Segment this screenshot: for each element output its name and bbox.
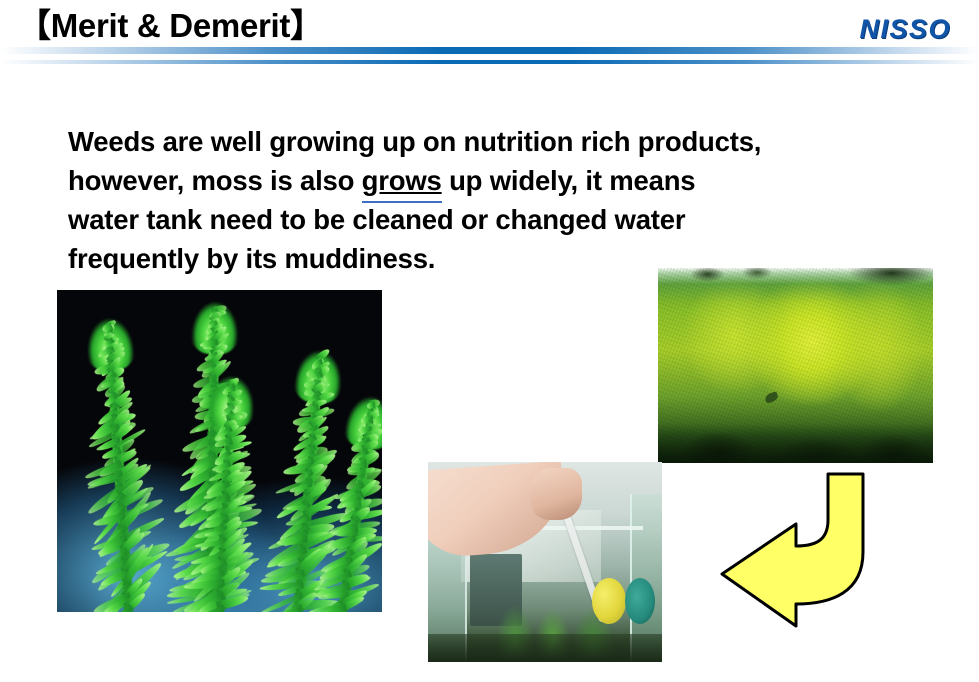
misspelled-word-grows: grows <box>362 165 442 196</box>
curved-left-arrow-svg <box>700 470 900 630</box>
slide-header: 【Merit & Demerit】 NISSO <box>0 0 979 70</box>
body-line-2-post: up widely, it means <box>442 165 696 196</box>
tank-floor-debris <box>658 423 933 463</box>
page-title: 【Merit & Demerit】 <box>18 6 323 46</box>
curved-left-arrow-icon <box>700 470 900 630</box>
slide-body-text: Weeds are well growing up on nutrition r… <box>68 122 948 278</box>
tank-cleaning-photo <box>428 462 662 662</box>
yellow-sponge <box>592 578 626 624</box>
hand <box>531 468 582 520</box>
teal-sponge <box>625 578 655 624</box>
aquarium-plants-photo <box>57 290 382 612</box>
body-line-3: water tank need to be cleaned or changed… <box>68 204 685 235</box>
body-line-4: frequently by its muddiness. <box>68 243 435 274</box>
tank-substrate <box>428 634 662 662</box>
plant-stalk <box>62 320 174 612</box>
body-line-1: Weeds are well growing up on nutrition r… <box>68 126 761 157</box>
header-rule-thin <box>0 60 979 64</box>
header-rule-thick <box>0 47 979 54</box>
nisso-logo: NISSO <box>859 14 951 44</box>
green-murky-water-photo <box>658 268 933 463</box>
waterline-debris <box>658 268 933 286</box>
body-line-2-pre: however, moss is also <box>68 165 362 196</box>
